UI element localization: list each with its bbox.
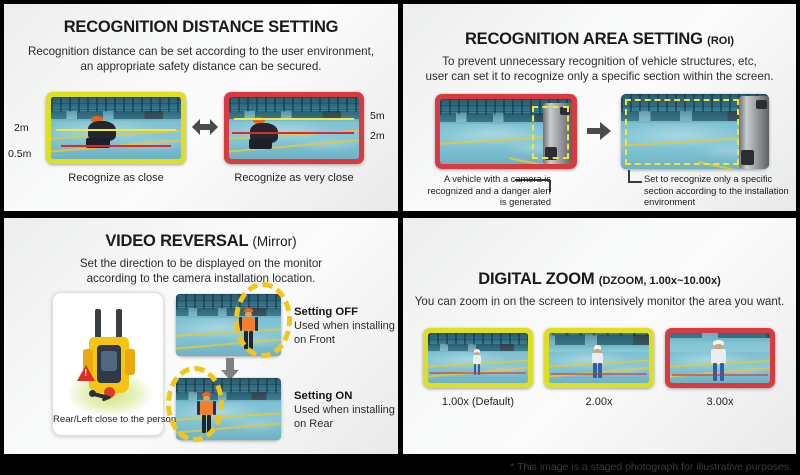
dzoom-photo-1x	[423, 328, 533, 388]
setting-off-desc: Used when installing on Front	[294, 320, 398, 347]
annot-line-2: recognized and a danger alert	[411, 186, 551, 198]
photo-zoom-3x	[670, 333, 770, 383]
arrow-down-icon	[221, 358, 239, 380]
footer-note: * This image is a staged photograph for …	[510, 461, 792, 473]
label-distance-left-bottom: 0.5m	[8, 148, 31, 160]
photo-warehouse-very-close	[229, 97, 359, 159]
annot-line-1: A vehicle with a camera is	[411, 174, 551, 186]
panel-desc-roi: To prevent unnecessary recognition of ve…	[403, 54, 796, 84]
crouching-worker	[247, 117, 286, 153]
title-suffix: (DZOOM, 1.00x~10.00x)	[599, 275, 721, 287]
panel-recognition-distance: RECOGNITION DISTANCE SETTING Recognition…	[4, 4, 398, 211]
photo-warehouse-close	[51, 97, 181, 159]
annot-line-3: is generated	[411, 197, 551, 209]
caption-recognize-as-very-close: Recognize as very close	[219, 172, 369, 184]
label-distance-left-top: 2m	[14, 122, 29, 134]
dzoom-photo-3x	[665, 328, 775, 388]
panel-desc-mirror: Set the direction to be displayed on the…	[4, 256, 398, 286]
panel-title-dzoom: DIGITAL ZOOM (DZOOM, 1.00x~10.00x)	[403, 270, 796, 289]
dzoom-caption-2x: 2.00x	[544, 396, 654, 408]
fallen-person-icon	[89, 389, 111, 403]
desc-line-2: user can set it to recognize only a spec…	[403, 69, 796, 84]
detection-line	[551, 373, 647, 375]
forklift-illustration-card: Rear/Left close to the person	[52, 292, 164, 436]
title-text: RECOGNITION DISTANCE SETTING	[64, 18, 339, 36]
forklift-side-right	[125, 349, 135, 375]
worker-shirt	[711, 349, 726, 363]
setting-on-desc: Used when installing on Rear	[294, 404, 398, 431]
annot-line-2: section according to the installation	[644, 186, 794, 198]
roi-photo-applied	[621, 94, 769, 169]
line-2m	[232, 132, 354, 134]
photo-warehouse-roi	[621, 94, 769, 169]
roi-selection-box	[532, 106, 569, 159]
roi-annotation-right: Set to recognize only a specific section…	[644, 174, 794, 209]
panel-title-distance: RECOGNITION DISTANCE SETTING	[4, 18, 398, 37]
title-text: VIDEO REVERSAL	[105, 232, 248, 250]
double-arrow-horizontal-icon	[192, 116, 218, 138]
worker-leg-right	[720, 363, 724, 381]
infographic-root: RECOGNITION DISTANCE SETTING Recognition…	[0, 0, 800, 475]
panel-title-mirror: VIDEO REVERSAL (Mirror)	[4, 232, 398, 251]
photo-zoom-1x	[428, 333, 528, 383]
worker-leg-left	[713, 363, 717, 381]
annot-line-3: environment	[644, 197, 794, 209]
worker-leg-right	[598, 363, 601, 378]
setting-off-title: Setting OFF	[294, 306, 358, 318]
leader-line-horizontal	[628, 181, 642, 183]
desc-line-1: Set the direction to be displayed on the…	[4, 256, 398, 271]
panel-title-roi: RECOGNITION AREA SETTING (ROI)	[403, 30, 796, 49]
vehicle-wheel	[741, 150, 753, 165]
label-distance-right-top: 5m	[370, 110, 385, 122]
desc-line-2: according to the camera installation loc…	[4, 271, 398, 286]
worker-leg-left	[593, 363, 596, 378]
dzoom-photo-2x	[544, 328, 654, 388]
worker-legs	[249, 139, 272, 149]
line-2m	[56, 129, 176, 131]
caption-recognize-as-close: Recognize as close	[46, 172, 186, 184]
desc-line-1: Used when installing	[294, 404, 398, 418]
desc-line-1: To prevent unnecessary recognition of ve…	[403, 54, 796, 69]
forklift-caption: Rear/Left close to the person	[53, 414, 163, 425]
panel-desc-distance: Recognition distance can be set accordin…	[4, 44, 398, 74]
desc-line-1: You can zoom in on the screen to intensi…	[403, 294, 796, 309]
forklift-seat	[101, 351, 117, 371]
panel-recognition-area: RECOGNITION AREA SETTING (ROI) To preven…	[403, 4, 796, 211]
detection-line	[672, 374, 768, 376]
line-0-5m	[61, 145, 170, 147]
desc-line-2: on Front	[294, 334, 398, 348]
title-suffix: (Mirror)	[252, 234, 296, 249]
highlight-ellipse-on	[166, 366, 224, 442]
vehicle-window	[756, 100, 767, 110]
title-suffix: (ROI)	[707, 35, 734, 47]
desc-line-1: Recognition distance can be set accordin…	[4, 44, 398, 59]
title-text: RECOGNITION AREA SETTING	[465, 30, 703, 48]
arrow-right-icon	[587, 122, 611, 140]
title-text: DIGITAL ZOOM	[478, 270, 594, 288]
worker-shirt	[592, 353, 603, 364]
line-5m	[234, 118, 354, 120]
label-distance-right-bottom: 2m	[370, 130, 385, 142]
photo-warehouse-vehicle	[440, 99, 572, 164]
desc-line-1: Used when installing	[294, 320, 398, 334]
panel-video-reversal: VIDEO REVERSAL (Mirror) Set the directio…	[4, 218, 398, 454]
photo-zoom-2x	[549, 333, 649, 383]
worker-shirt	[473, 355, 482, 364]
highlight-ellipse-off	[234, 282, 292, 358]
vehicle-body	[739, 96, 769, 170]
desc-line-2: on Rear	[294, 418, 398, 432]
distance-photo-very-close	[224, 92, 364, 164]
detection-line	[430, 372, 526, 374]
panel-desc-dzoom: You can zoom in on the screen to intensi…	[403, 294, 796, 309]
annot-line-1: Set to recognize only a specific	[644, 174, 794, 186]
roi-annotation-left: A vehicle with a camera is recognized an…	[411, 174, 551, 209]
dzoom-caption-3x: 3.00x	[665, 396, 775, 408]
roi-selection-box	[625, 99, 739, 165]
warning-triangle-icon	[77, 365, 95, 381]
desc-line-2: an appropriate safety distance can be se…	[4, 59, 398, 74]
dzoom-caption-1x: 1.00x (Default)	[423, 396, 533, 408]
distance-photo-close	[46, 92, 186, 164]
setting-on-title: Setting ON	[294, 390, 352, 402]
panel-digital-zoom: DIGITAL ZOOM (DZOOM, 1.00x~10.00x) You c…	[403, 218, 796, 454]
roi-photo-alert	[435, 94, 577, 169]
